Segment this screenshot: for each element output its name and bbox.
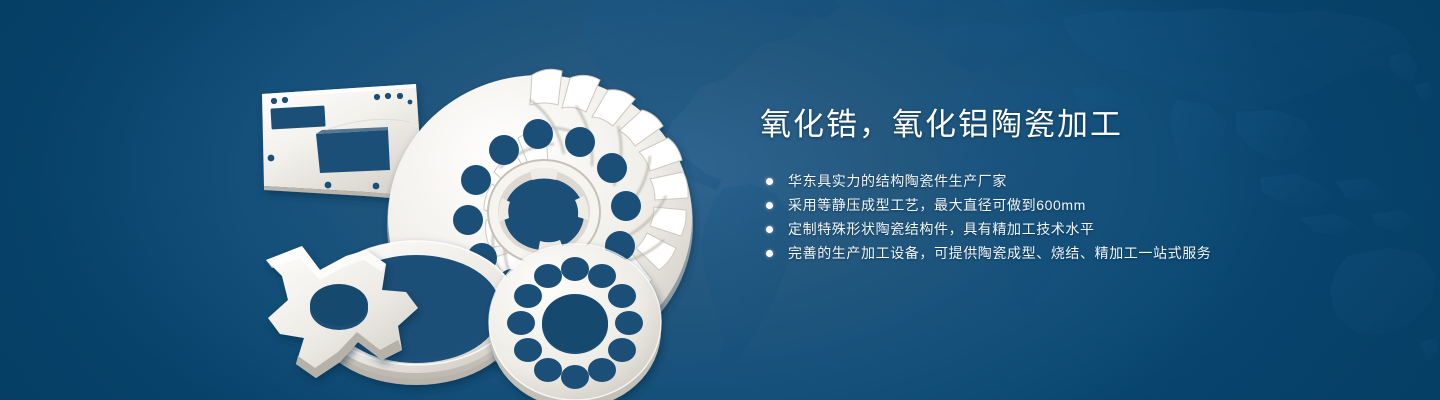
promo-banner: 氧化锆，氧化铝陶瓷加工 华东具实力的结构陶瓷件生产厂家 采用等静压成型工艺，最大… <box>0 0 1440 400</box>
bullet-dot-icon <box>766 202 773 209</box>
feature-text: 采用等静压成型工艺，最大直径可做到600mm <box>788 197 1086 213</box>
bullet-dot-icon <box>766 178 773 185</box>
feature-item: 华东具实力的结构陶瓷件生产厂家 <box>766 174 1380 189</box>
banner-copy: 氧化锆，氧化铝陶瓷加工 华东具实力的结构陶瓷件生产厂家 采用等静压成型工艺，最大… <box>760 104 1380 261</box>
feature-item: 完善的生产加工设备，可提供陶瓷成型、烧结、精加工一站式服务 <box>766 246 1380 261</box>
feature-text: 华东具实力的结构陶瓷件生产厂家 <box>788 173 1007 189</box>
ceramic-perforated-disc <box>489 244 661 400</box>
feature-item: 采用等静压成型工艺，最大直径可做到600mm <box>766 198 1380 213</box>
banner-headline: 氧化锆，氧化铝陶瓷加工 <box>760 104 1380 146</box>
feature-item: 定制特殊形状陶瓷结构件，具有精加工技术水平 <box>766 222 1380 237</box>
bullet-dot-icon <box>766 226 773 233</box>
bullet-dot-icon <box>766 250 773 257</box>
ceramic-products-image <box>230 40 700 400</box>
feature-text: 完善的生产加工设备，可提供陶瓷成型、烧结、精加工一站式服务 <box>788 245 1211 261</box>
feature-text: 定制特殊形状陶瓷结构件，具有精加工技术水平 <box>788 221 1095 237</box>
banner-feature-list: 华东具实力的结构陶瓷件生产厂家 采用等静压成型工艺，最大直径可做到600mm 定… <box>766 174 1380 261</box>
